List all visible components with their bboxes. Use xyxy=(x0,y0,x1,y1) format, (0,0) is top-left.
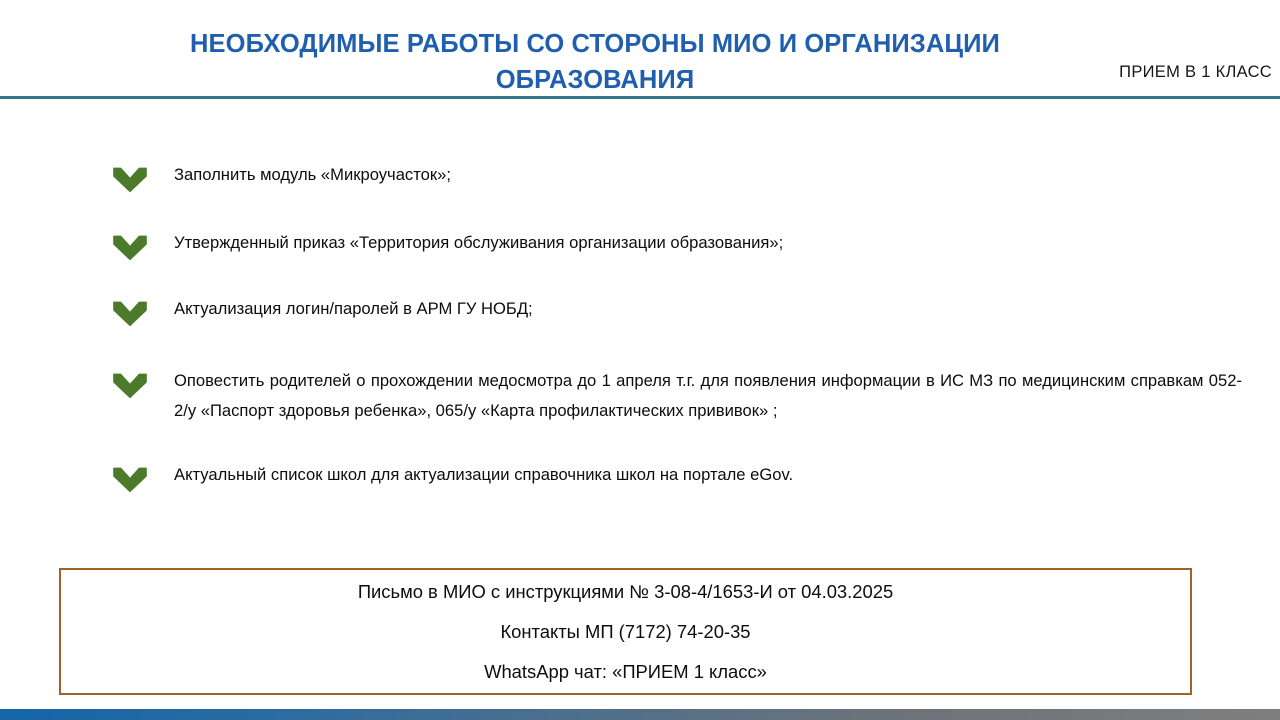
list-item-text: Актуализация логин/паролей в АРМ ГУ НОБД… xyxy=(174,294,1242,324)
list-item: Оповестить родителей о прохождении медос… xyxy=(0,366,1280,426)
green-chevron-bullet-icon xyxy=(110,234,150,262)
green-chevron-bullet-icon xyxy=(110,166,150,194)
list-item: Актуализация логин/паролей в АРМ ГУ НОБД… xyxy=(0,294,1280,324)
green-chevron-bullet-icon xyxy=(110,372,150,400)
contact-info-box: Письмо в МИО с инструкциями № 3-08-4/165… xyxy=(59,568,1192,695)
contact-line-whatsapp: WhatsApp чат: «ПРИЕМ 1 класс» xyxy=(61,652,1190,692)
contact-line-phone: Контакты МП (7172) 74-20-35 xyxy=(61,612,1190,652)
slide-canvas: НЕОБХОДИМЫЕ РАБОТЫ СО СТОРОНЫ МИО И ОРГА… xyxy=(0,0,1280,720)
header-section-label: ПРИЕМ В 1 КЛАСС xyxy=(1119,63,1272,82)
green-chevron-bullet-icon xyxy=(110,300,150,328)
list-item-text: Заполнить модуль «Микроучасток»; xyxy=(174,160,1242,190)
green-chevron-bullet-icon xyxy=(110,466,150,494)
list-item: Актуальный список школ для актуализации … xyxy=(0,460,1280,490)
header-divider xyxy=(0,96,1280,99)
bullet-list: Заполнить модуль «Микроучасток»; Утвержд… xyxy=(0,160,1280,490)
contact-line-letter-reference: Письмо в МИО с инструкциями № 3-08-4/165… xyxy=(61,572,1190,612)
page-title: НЕОБХОДИМЫЕ РАБОТЫ СО СТОРОНЫ МИО И ОРГА… xyxy=(150,26,1040,98)
list-item-text: Утвержденный приказ «Территория обслужив… xyxy=(174,228,1242,258)
list-item-text: Оповестить родителей о прохождении медос… xyxy=(174,366,1242,426)
list-item: Заполнить модуль «Микроучасток»; xyxy=(0,160,1280,190)
footer-accent-bar xyxy=(0,709,1280,720)
list-item: Утвержденный приказ «Территория обслужив… xyxy=(0,228,1280,258)
list-item-text: Актуальный список школ для актуализации … xyxy=(174,460,1242,490)
slide-header: НЕОБХОДИМЫЕ РАБОТЫ СО СТОРОНЫ МИО И ОРГА… xyxy=(0,0,1280,96)
